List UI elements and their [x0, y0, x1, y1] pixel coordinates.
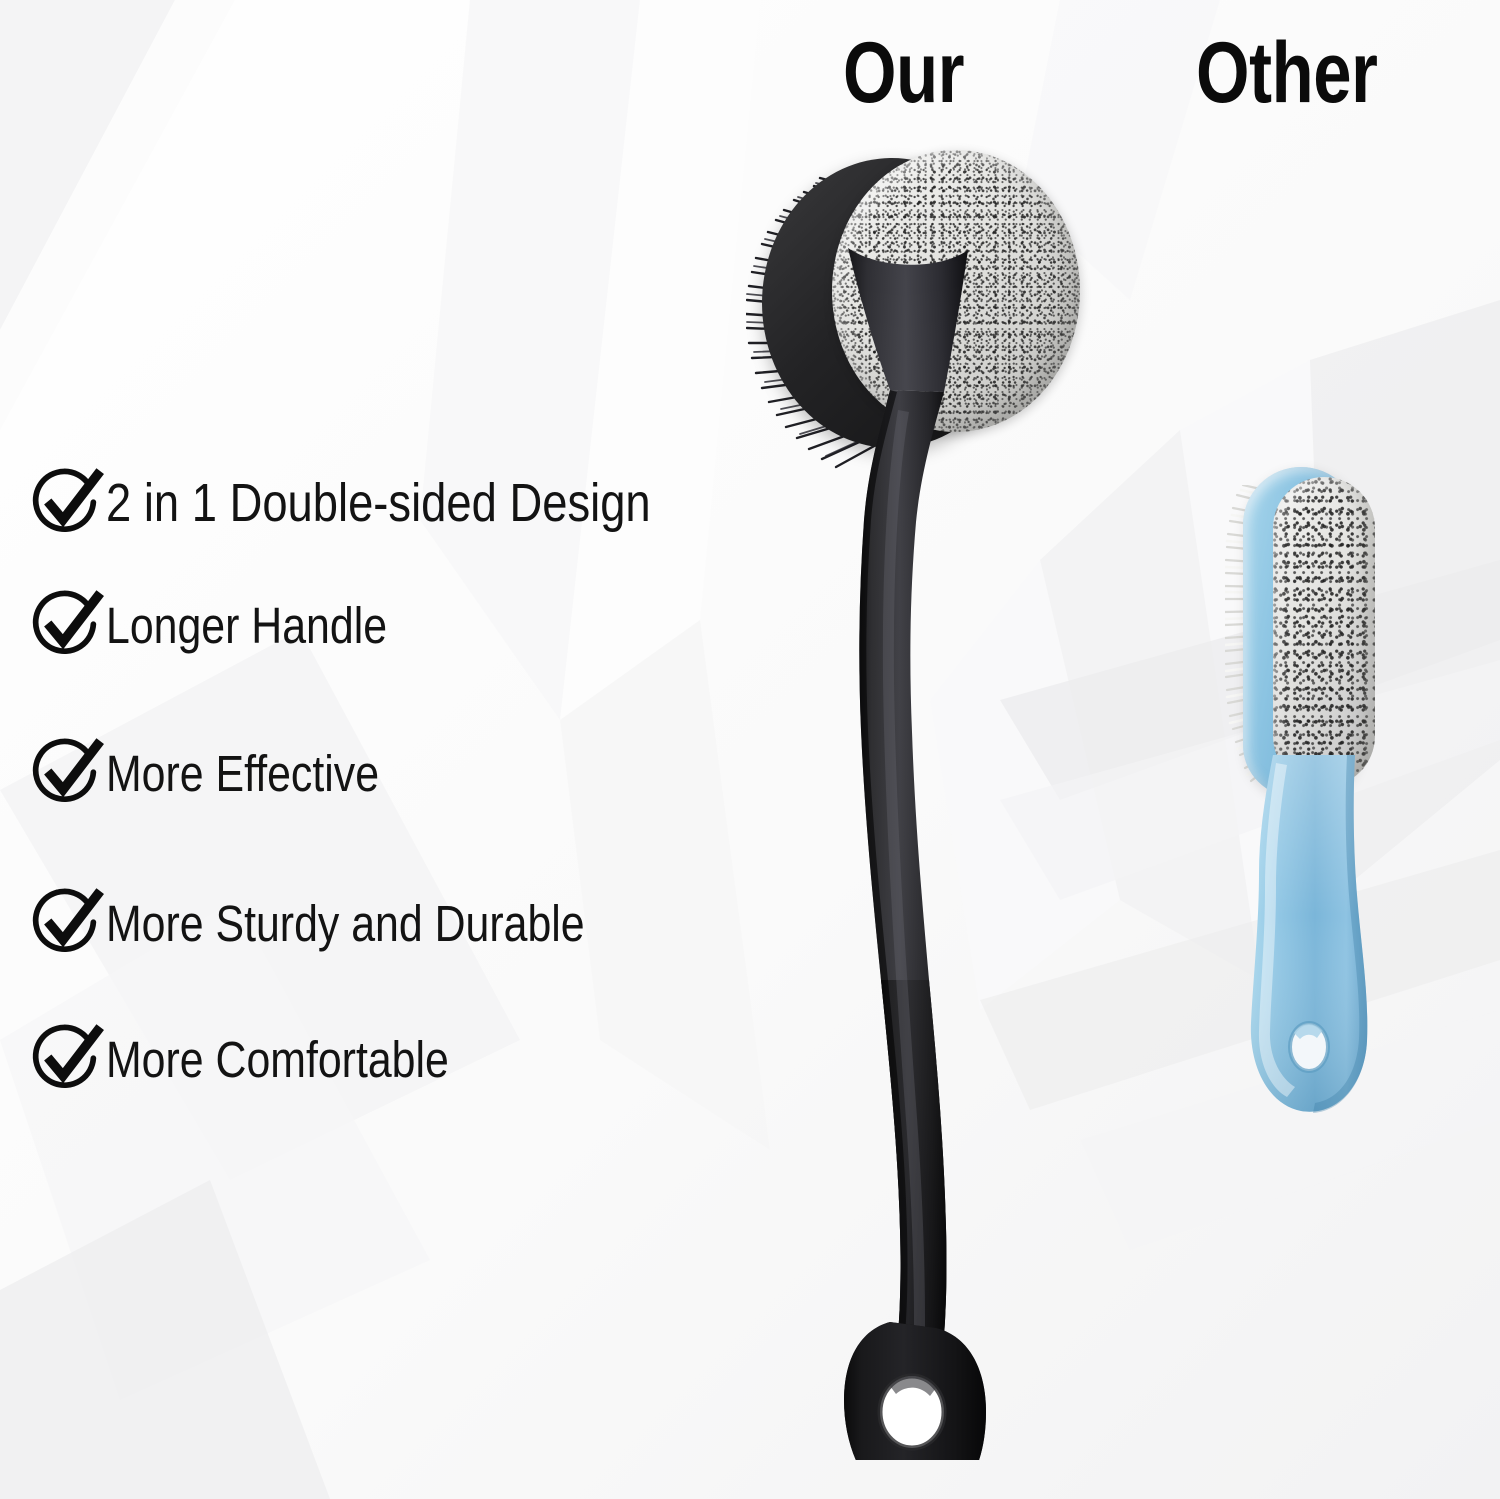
list-item: More Sturdy and Durable	[28, 847, 858, 999]
pumice-stone-pill	[1273, 477, 1375, 787]
handle-black	[740, 140, 1100, 1460]
feature-label: More Sturdy and Durable	[106, 894, 585, 953]
feature-label: Longer Handle	[106, 596, 387, 655]
check-circle-icon	[28, 885, 104, 961]
feature-label: More Comfortable	[106, 1030, 449, 1089]
check-circle-icon	[28, 1021, 104, 1097]
list-item: Longer Handle	[28, 551, 858, 699]
list-item: 2 in 1 Double-sided Design	[28, 455, 858, 551]
column-header-other: Other	[1196, 24, 1378, 123]
product-other-brush	[1225, 455, 1470, 1130]
list-item: More Effective	[28, 699, 858, 847]
product-comparison-image: Our Other 2 in 1 Double-sided Design Lon…	[0, 0, 1500, 1499]
check-circle-icon	[28, 465, 104, 541]
handle-blue	[1243, 755, 1393, 1135]
list-item: More Comfortable	[28, 999, 858, 1119]
column-header-our: Our	[843, 24, 964, 123]
feature-label: More Effective	[106, 744, 379, 803]
product-our-brush	[740, 140, 1100, 1460]
check-circle-icon	[28, 587, 104, 663]
feature-checklist: 2 in 1 Double-sided Design Longer Handle…	[28, 455, 858, 1119]
feature-label: 2 in 1 Double-sided Design	[106, 472, 651, 534]
check-circle-icon	[28, 735, 104, 811]
